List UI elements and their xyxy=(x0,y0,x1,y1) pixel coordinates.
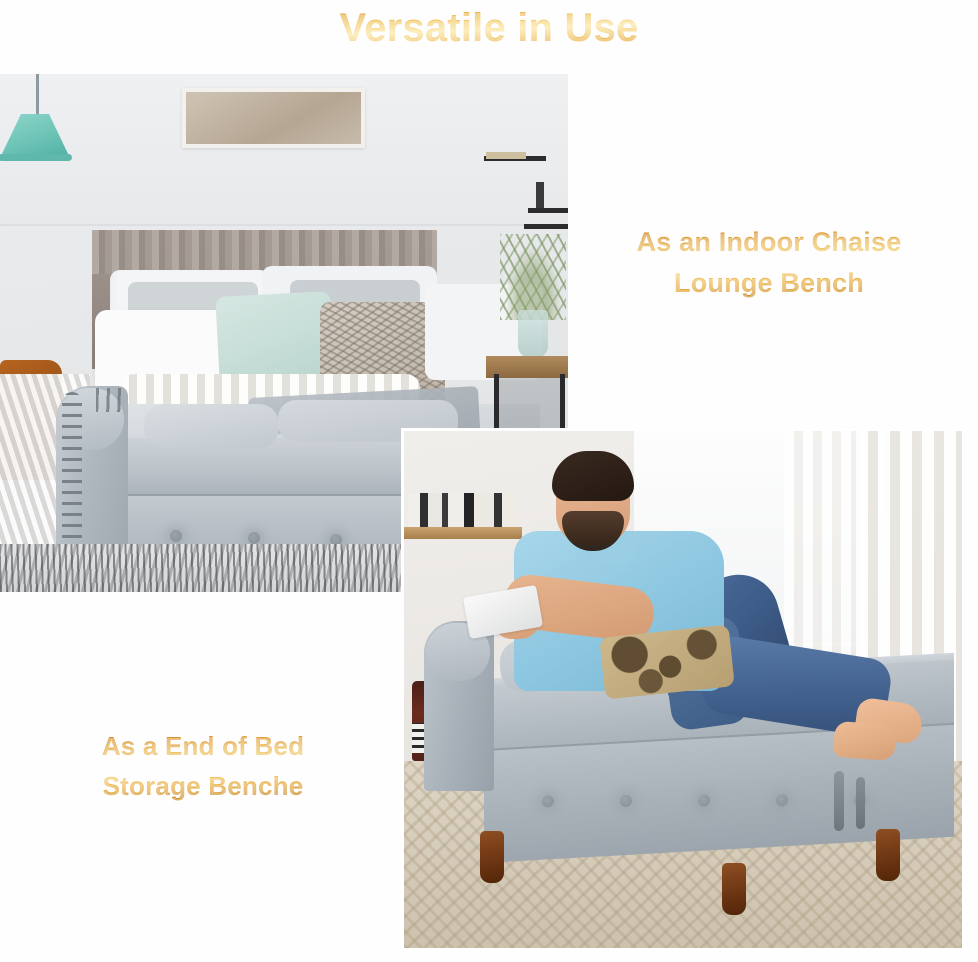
pendant-lamp-cord xyxy=(36,74,39,120)
shelf-books xyxy=(408,493,518,529)
bench-nailhead-trim-vertical xyxy=(62,392,82,560)
wall-shelf-bracket xyxy=(536,182,544,210)
chaise-tuft-button xyxy=(620,795,632,808)
framed-wall-art xyxy=(182,88,365,148)
chaise-tuft-button xyxy=(776,794,788,807)
chaise-pull-strap-second xyxy=(856,777,865,829)
bench-bolster-pillow-left xyxy=(144,404,279,448)
chaise-tuft-button xyxy=(542,795,554,808)
man-foot-lower xyxy=(833,721,897,761)
chaise-leg-back-right xyxy=(876,829,900,881)
caption-left-line-2: Storage Benche xyxy=(38,766,368,806)
eucalyptus-branches xyxy=(500,234,566,320)
bench-tuft-button xyxy=(170,530,182,542)
wooden-wall-shelf xyxy=(404,527,522,539)
pendant-lamp-rim xyxy=(0,154,72,161)
bench-nailhead-trim-top xyxy=(96,388,122,412)
wall-shelf-middle xyxy=(528,208,568,213)
page-title: Versatile in Use xyxy=(0,2,978,54)
caption-end-of-bed-storage-bench: As a End of Bed Storage Benche xyxy=(38,726,368,806)
caption-right-line-2: Lounge Bench xyxy=(570,263,968,304)
chaise-leg-front-left xyxy=(480,831,504,883)
caption-right-line-1: As an Indoor Chaise xyxy=(570,222,968,263)
chaise-leg-front-right xyxy=(722,863,746,915)
bench-tuft-button xyxy=(248,532,260,544)
chaise-pull-strap xyxy=(834,771,844,832)
glass-vase xyxy=(518,310,548,358)
chaise-tuft-button xyxy=(698,794,710,807)
caption-indoor-chaise-lounge: As an Indoor Chaise Lounge Bench xyxy=(570,222,968,304)
caption-left-line-1: As a End of Bed xyxy=(38,726,368,766)
photo-indoor-chaise-lounge xyxy=(404,431,962,948)
wall-shelf-upper-object xyxy=(486,152,526,159)
man-hair xyxy=(552,451,634,501)
wall-shelf-lower xyxy=(524,224,568,229)
marketing-image-canvas: Versatile in Use xyxy=(0,0,978,962)
